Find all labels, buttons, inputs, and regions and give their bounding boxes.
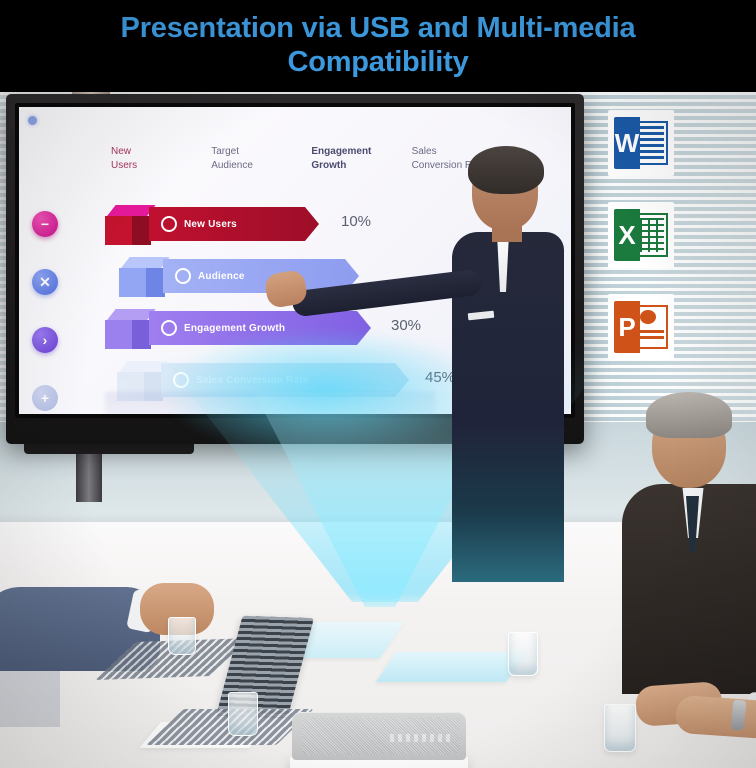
standing-presenter — [452, 152, 572, 582]
slide-header-engagement-growth: Engagement Growth — [311, 145, 373, 172]
attendee-hands-right — [636, 680, 756, 750]
funnel-row: New Users 10% — [105, 201, 405, 249]
pie-chart-icon — [175, 268, 191, 284]
office-file-format-icons: W X P — [608, 110, 680, 386]
water-glass — [604, 704, 636, 752]
word-letter: W — [614, 117, 640, 169]
portable-projector — [290, 712, 468, 768]
document-on-table — [376, 652, 526, 682]
page-title: Presentation via USB and Multi-media Com… — [48, 12, 708, 79]
product-marketing-image: Presentation via USB and Multi-media Com… — [0, 0, 756, 768]
banner: Presentation via USB and Multi-media Com… — [0, 0, 756, 92]
plus-circle-icon: + — [32, 385, 58, 411]
excel-letter: X — [614, 209, 640, 261]
conference-room-scene: New Users Target Audience Engagement Gro… — [0, 92, 756, 768]
projector-brand-logo — [390, 734, 450, 742]
powerpoint-letter: P — [614, 301, 640, 353]
funnel-bar-label: New Users — [184, 219, 237, 230]
close-x-circle-icon: ✕ — [32, 269, 58, 295]
attendee-hair — [646, 392, 732, 438]
chevron-right-circle-icon: › — [32, 327, 58, 353]
cube-block — [119, 257, 165, 297]
powerpoint-chart — [640, 310, 664, 344]
slide-icon-rail: − ✕ › + — [23, 211, 67, 414]
funnel-value: 10% — [341, 213, 371, 230]
minus-circle-icon: − — [32, 211, 58, 237]
word-text-lines — [640, 126, 664, 160]
microsoft-word-icon: W — [608, 110, 674, 176]
cube-block — [105, 309, 151, 349]
cube-block — [105, 205, 151, 245]
microsoft-excel-icon: X — [608, 202, 674, 268]
chart-up-icon — [161, 216, 177, 232]
projector-top-cover — [292, 712, 466, 760]
microsoft-powerpoint-icon: P — [608, 294, 674, 360]
presenter-hair — [468, 146, 544, 194]
slide-header-new-users: New Users — [111, 145, 173, 172]
blue-indicator-dot — [28, 116, 37, 125]
funnel-bar-label: Audience — [198, 271, 245, 282]
slide-header-target-audience: Target Audience — [211, 145, 273, 172]
funnel-bar: New Users — [149, 207, 319, 241]
water-glass — [228, 692, 258, 736]
excel-grid-lines — [640, 218, 664, 252]
water-glass — [508, 632, 538, 676]
slide-header-row: New Users Target Audience Engagement Gro… — [111, 145, 491, 172]
seated-attendee-right — [628, 392, 756, 692]
water-glass — [168, 617, 196, 655]
